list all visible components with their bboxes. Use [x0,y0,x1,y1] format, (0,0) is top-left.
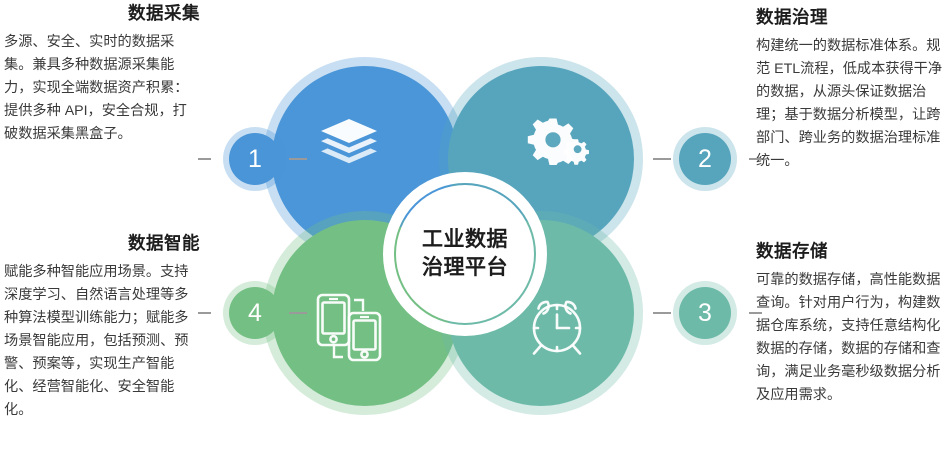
block-body-intelligence: 赋能多种智能应用场景。支持深度学习、自然语言处理等多种算法模型训练能力；赋能多场… [4,261,200,422]
block-title-intelligence: 数据智能 [4,232,200,256]
block-body-govern: 构建统一的数据标准体系。规范 ETL流程，低成本获得干净的数据，从源头保证数据治… [756,35,944,173]
connector-badge-4 [289,312,307,314]
number-badge-4[interactable]: 4 [229,287,281,339]
connector-line-left-bottom [198,312,211,314]
number-badge-4-label: 4 [248,301,262,326]
connector-line-right-bottom [749,312,762,314]
block-title-storage: 数据存储 [756,240,944,264]
connector-line-right-top [749,158,762,160]
number-badge-2[interactable]: 2 [679,133,731,185]
connector-badge-3 [653,312,671,314]
number-badge-1[interactable]: 1 [229,133,281,185]
four-petal-diagram: 1 2 3 4 工业数据 治理平台 [210,40,750,430]
infographic-page: 数据采集 多源、安全、实时的数据采集。兼具多种数据源采集能力，实现全端数据资产积… [0,0,944,465]
connector-line-left-top [198,158,211,160]
number-badge-3[interactable]: 3 [679,287,731,339]
block-body-storage: 可靠的数据存储，高性能数据查询。针对用户行为，构建数据仓库系统，支持任意结构化数… [756,269,944,407]
text-block-storage: 数据存储 可靠的数据存储，高性能数据查询。针对用户行为，构建数据仓库系统，支持任… [756,240,944,407]
block-title-collect: 数据采集 [4,2,200,26]
hub-core[interactable]: 工业数据 治理平台 [396,185,534,323]
text-block-intelligence: 数据智能 赋能多种智能应用场景。支持深度学习、自然语言处理等多种算法模型训练能力… [4,232,200,422]
number-badge-3-label: 3 [698,301,712,326]
text-block-collect: 数据采集 多源、安全、实时的数据采集。兼具多种数据源采集能力，实现全端数据资产积… [4,2,200,146]
connector-badge-2 [653,158,671,160]
number-badge-2-label: 2 [698,147,712,172]
hub-label: 工业数据 治理平台 [422,226,508,281]
text-block-govern: 数据治理 构建统一的数据标准体系。规范 ETL流程，低成本获得干净的数据，从源头… [756,6,944,173]
connector-badge-1 [289,158,307,160]
block-title-govern: 数据治理 [756,6,944,30]
number-badge-1-label: 1 [248,147,262,172]
block-body-collect: 多源、安全、实时的数据采集。兼具多种数据源采集能力，实现全端数据资产积累：提供多… [4,31,200,146]
